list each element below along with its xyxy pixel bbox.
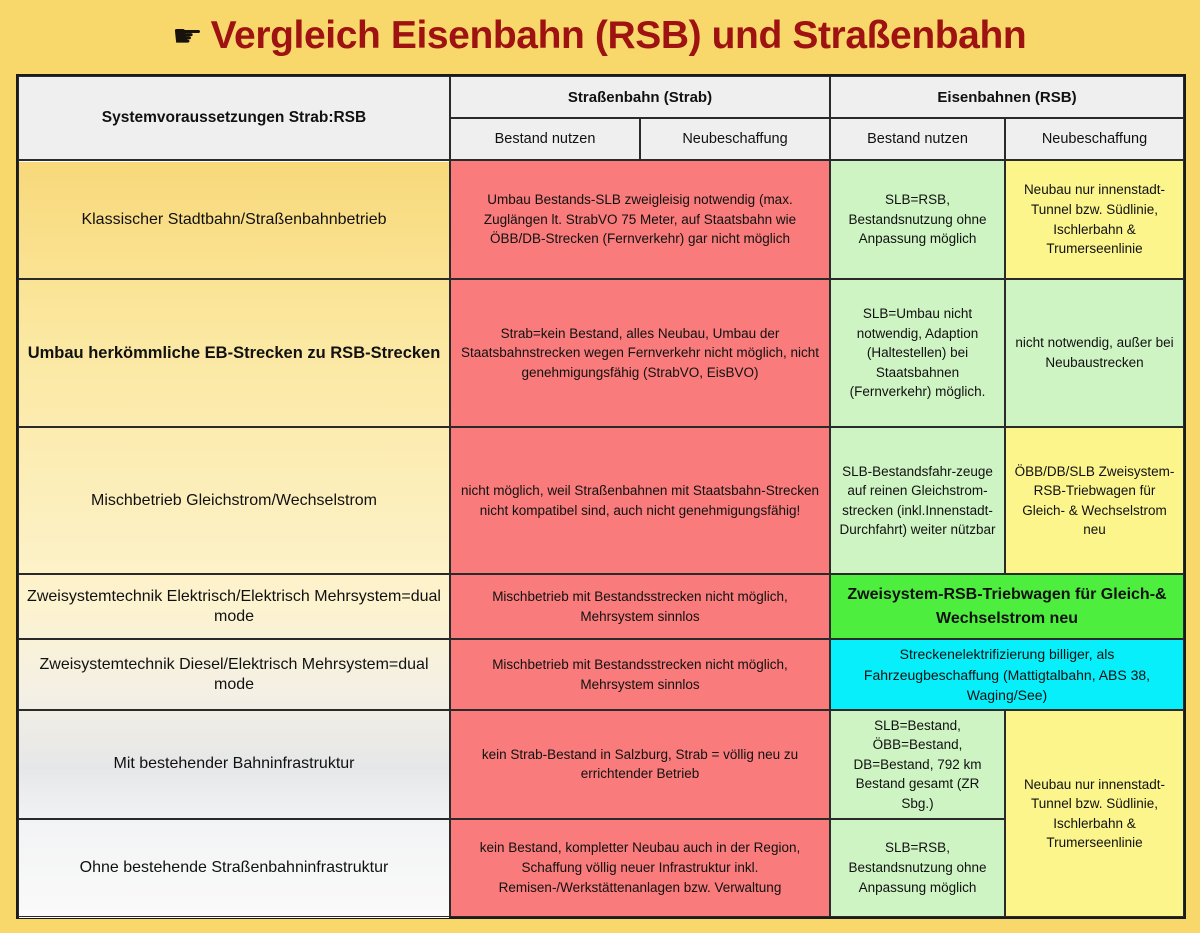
- cell-rsb-merged-r4: Zweisystem-RSB-Triebwagen für Gleich-& W…: [830, 574, 1184, 639]
- table-row: Umbau herkömmliche EB-Strecken zu RSB-St…: [18, 279, 1184, 428]
- cell-rsb-bestand-r3: SLB-Bestandsfahr-zeuge auf reinen Gleich…: [830, 427, 1005, 574]
- cell-strab-r4: Mischbetrieb mit Bestandsstrecken nicht …: [450, 574, 830, 639]
- cell-strab-r6: kein Strab-Bestand in Salzburg, Strab = …: [450, 710, 830, 818]
- cell-rsb-neu-r3: ÖBB/DB/SLB Zweisystem-RSB-Triebwagen für…: [1005, 427, 1184, 574]
- page-title: Vergleich Eisenbahn (RSB) und Straßenbah…: [211, 14, 1027, 58]
- cell-strab-r7: kein Bestand, kompletter Neubau auch in …: [450, 819, 830, 917]
- row-label-zweisystemtechnik-diesel: Zweisystemtechnik Diesel/Elektrisch Mehr…: [18, 639, 450, 710]
- subheader-rsb-bestand: Bestand nutzen: [830, 118, 1005, 160]
- comparison-table-container: Systemvoraussetzungen Strab:RSB Straßenb…: [16, 74, 1186, 919]
- pointing-hand-icon: ☛: [172, 22, 203, 52]
- subheader-rsb-neubeschaffung: Neubeschaffung: [1005, 118, 1184, 160]
- cell-strab-r5: Mischbetrieb mit Bestandsstrecken nicht …: [450, 639, 830, 710]
- table-row: Mit bestehender Bahninfrastruktur kein S…: [18, 710, 1184, 818]
- cell-strab-r1: Umbau Bestands-SLB zweigleisig notwendig…: [450, 160, 830, 278]
- cell-rsb-bestand-r1: SLB=RSB, Bestandsnutzung ohne Anpassung …: [830, 160, 1005, 278]
- subheader-strab-bestand: Bestand nutzen: [450, 118, 640, 160]
- row-label-mischbetrieb-gleichstrom-wechselstrom: Mischbetrieb Gleichstrom/Wechselstrom: [18, 427, 450, 574]
- table-row: Zweisystemtechnik Elektrisch/Elektrisch …: [18, 574, 1184, 639]
- cell-strab-r3: nicht möglich, weil Straßenbahnen mit St…: [450, 427, 830, 574]
- row-label-klassischer-stadtbahnbetrieb: Klassischer Stadtbahn/Straßenbahnbetrieb: [18, 160, 450, 278]
- comparison-table: Systemvoraussetzungen Strab:RSB Straßenb…: [18, 76, 1184, 917]
- subheader-strab-neubeschaffung: Neubeschaffung: [640, 118, 830, 160]
- table-row: Mischbetrieb Gleichstrom/Wechselstrom ni…: [18, 427, 1184, 574]
- column-group-rsb: Eisenbahnen (RSB): [830, 76, 1184, 118]
- row-label-zweisystemtechnik-elektrisch: Zweisystemtechnik Elektrisch/Elektrisch …: [18, 574, 450, 639]
- cell-rsb-neu-r2: nicht notwendig, außer bei Neubaustrecke…: [1005, 279, 1184, 428]
- column-group-strab: Straßenbahn (Strab): [450, 76, 830, 118]
- row-label-mit-bestehender-bahninfrastruktur: Mit bestehender Bahninfrastruktur: [18, 710, 450, 818]
- row-label-ohne-bestehende-strassenbahninfrastruktur: Ohne bestehende Straßenbahninfrastruktur: [18, 819, 450, 917]
- table-row: Klassischer Stadtbahn/Straßenbahnbetrieb…: [18, 160, 1184, 278]
- table-header-group-row: Systemvoraussetzungen Strab:RSB Straßenb…: [18, 76, 1184, 118]
- cell-rsb-neu-r6-r7: Neubau nur innenstadt-Tunnel bzw. Südlin…: [1005, 710, 1184, 917]
- cell-strab-r2: Strab=kein Bestand, alles Neubau, Umbau …: [450, 279, 830, 428]
- cell-rsb-bestand-r2: SLB=Umbau nicht notwendig, Adaption (Hal…: [830, 279, 1005, 428]
- cell-rsb-bestand-r7: SLB=RSB, Bestandsnutzung ohne Anpassung …: [830, 819, 1005, 917]
- cell-rsb-merged-r5: Streckenelektrifizierung billiger, als F…: [830, 639, 1184, 710]
- cell-rsb-neu-r1: Neubau nur innenstadt-Tunnel bzw. Südlin…: [1005, 160, 1184, 278]
- page-title-bar: ☛ Vergleich Eisenbahn (RSB) und Straßenb…: [0, 0, 1200, 72]
- table-corner-label: Systemvoraussetzungen Strab:RSB: [18, 76, 450, 160]
- table-row: Zweisystemtechnik Diesel/Elektrisch Mehr…: [18, 639, 1184, 710]
- row-label-umbau-eb-strecken: Umbau herkömmliche EB-Strecken zu RSB-St…: [18, 279, 450, 428]
- cell-rsb-bestand-r6: SLB=Bestand, ÖBB=Bestand, DB=Bestand, 79…: [830, 710, 1005, 818]
